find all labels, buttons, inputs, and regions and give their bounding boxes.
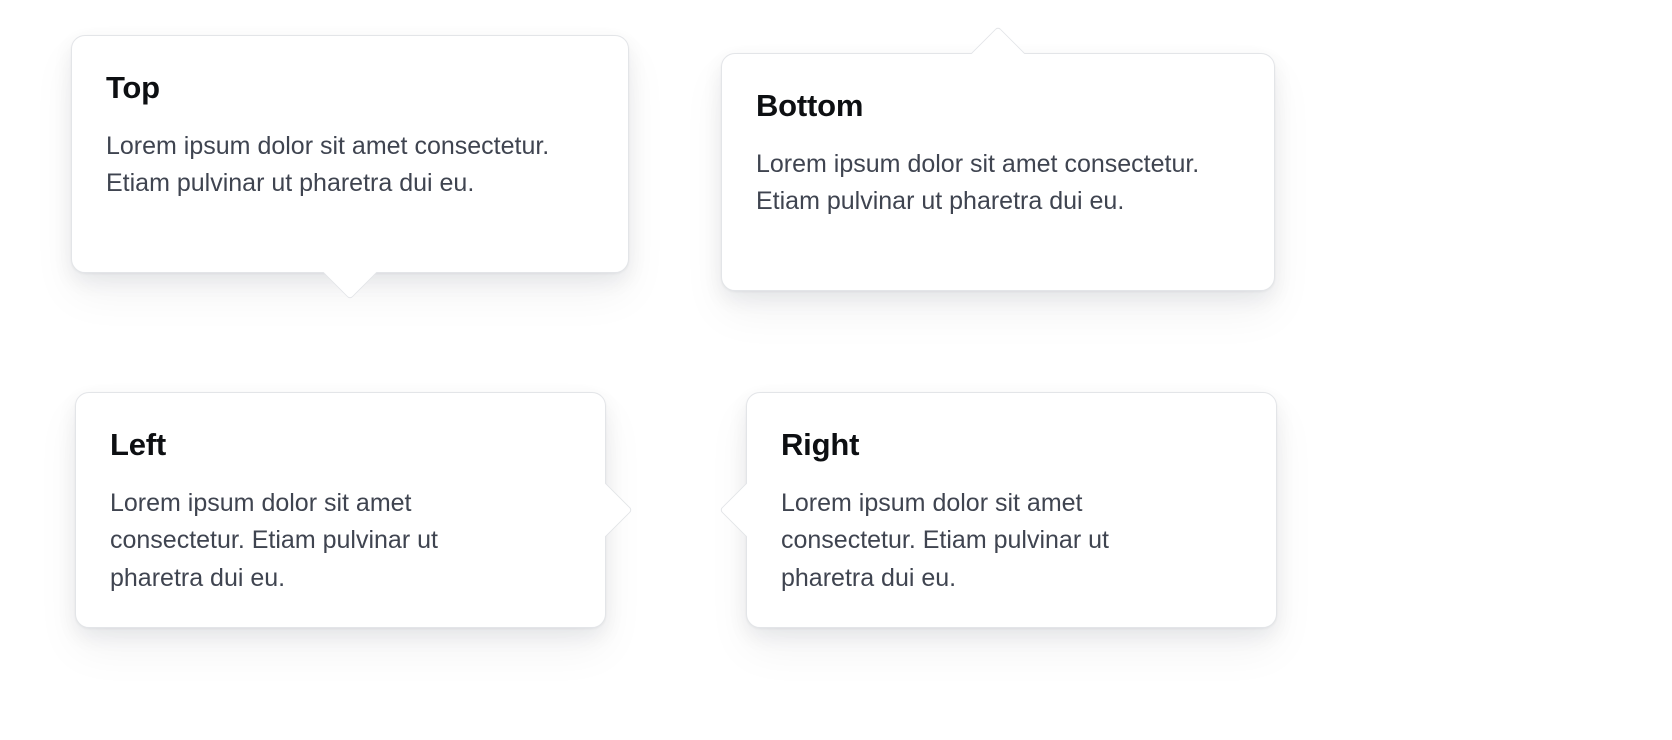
popover-right-body: Lorem ipsum dolor sit amet consectetur. … — [781, 485, 1181, 598]
popover-bottom[interactable]: Bottom Lorem ipsum dolor sit amet consec… — [721, 53, 1275, 291]
caret-left-icon — [719, 483, 773, 537]
popover-left-body: Lorem ipsum dolor sit amet consectetur. … — [110, 485, 510, 598]
popover-right[interactable]: Right Lorem ipsum dolor sit amet consect… — [746, 392, 1277, 628]
caret-up-icon — [971, 26, 1025, 80]
caret-right-icon — [579, 483, 633, 537]
popover-top-title: Top — [106, 70, 590, 106]
popover-bottom-title: Bottom — [756, 88, 1236, 124]
popover-left-title: Left — [110, 427, 567, 463]
popover-showcase: Top Lorem ipsum dolor sit amet consectet… — [0, 0, 1672, 740]
popover-top-body: Lorem ipsum dolor sit amet consectetur. … — [106, 128, 590, 203]
popover-top[interactable]: Top Lorem ipsum dolor sit amet consectet… — [71, 35, 629, 273]
popover-right-title: Right — [781, 427, 1238, 463]
popover-left[interactable]: Left Lorem ipsum dolor sit amet consecte… — [75, 392, 606, 628]
popover-bottom-body: Lorem ipsum dolor sit amet consectetur. … — [756, 146, 1236, 221]
caret-down-icon — [323, 246, 377, 300]
